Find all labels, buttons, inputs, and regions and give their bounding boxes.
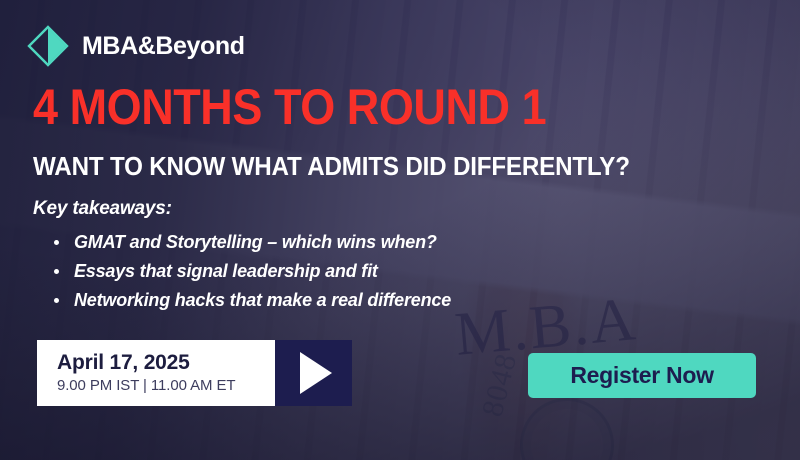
webinar-promo-banner: M.B.A 8048 MBA&Beyond 4 MONTHS TO ROUND … [0,0,800,460]
takeaways-label: Key takeaways: [33,198,172,220]
event-date: April 17, 2025 [57,350,275,375]
banner-content: MBA&Beyond 4 MONTHS TO ROUND 1 WANT TO K… [0,0,800,460]
takeaways-list: GMAT and Storytelling – which wins when?… [52,228,451,315]
play-triangle-icon [300,352,332,394]
play-button[interactable] [275,340,352,406]
brand-logo[interactable]: MBA&Beyond [26,24,245,68]
event-times: 9.00 PM IST | 11.00 AM ET [57,375,275,397]
event-date-box: April 17, 2025 9.00 PM IST | 11.00 AM ET [37,340,275,406]
bullet-dot-icon [54,269,59,274]
list-item: Essays that signal leadership and fit [74,257,451,286]
list-item-label: Networking hacks that make a real differ… [74,290,451,310]
list-item-label: Essays that signal leadership and fit [74,261,378,281]
diamond-split-icon [26,24,70,68]
bullet-dot-icon [54,240,59,245]
register-now-button[interactable]: Register Now [528,353,756,398]
page-title: 4 MONTHS TO ROUND 1 [33,82,546,132]
brand-name: MBA&Beyond [82,34,245,59]
list-item: GMAT and Storytelling – which wins when? [74,228,451,257]
bullet-dot-icon [54,298,59,303]
event-date-strip: April 17, 2025 9.00 PM IST | 11.00 AM ET [37,340,352,406]
list-item: Networking hacks that make a real differ… [74,286,451,315]
page-subtitle: WANT TO KNOW WHAT ADMITS DID DIFFERENTLY… [33,152,630,181]
list-item-label: GMAT and Storytelling – which wins when? [74,232,437,252]
